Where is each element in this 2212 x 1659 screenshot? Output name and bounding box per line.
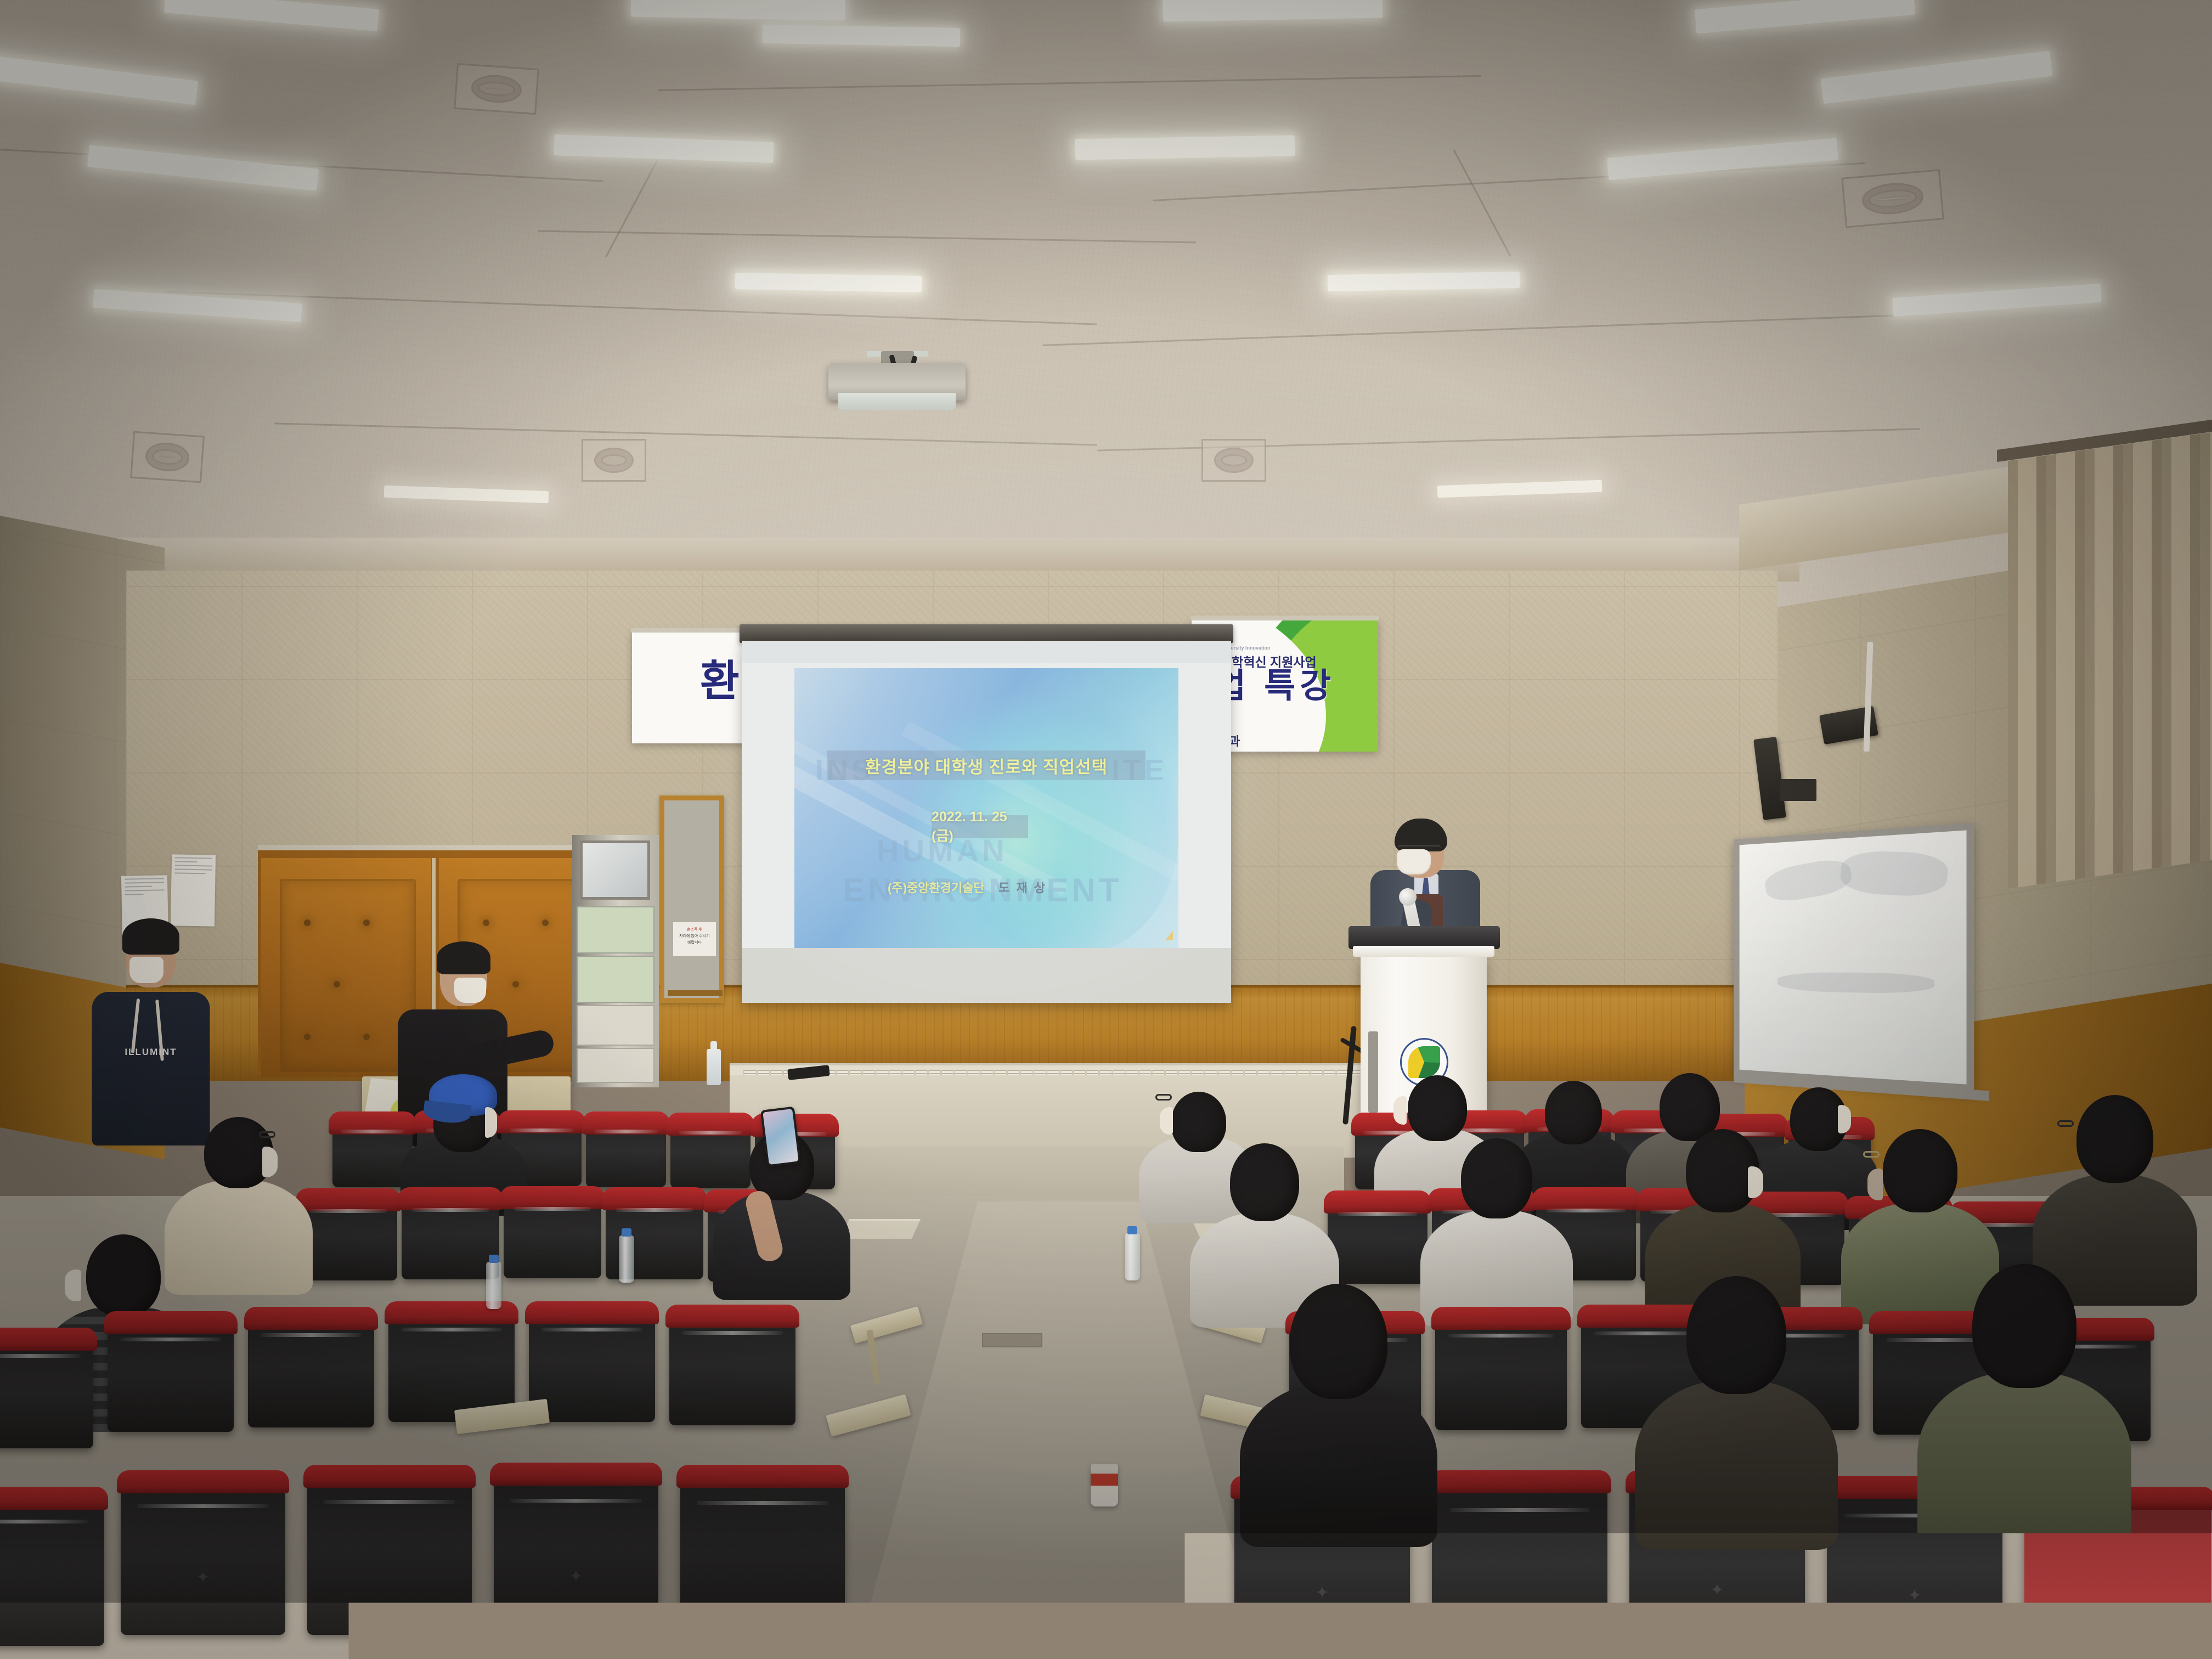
speaker-bracket: [1780, 779, 1816, 801]
bottle-cap: [622, 1228, 631, 1237]
projector-lens: [838, 393, 956, 410]
face-mask-icon: [1748, 1166, 1763, 1198]
whiteboard[interactable]: [1734, 823, 1974, 1092]
audience-member: [1662, 1119, 1783, 1289]
audience-head: [86, 1234, 161, 1317]
whiteboard-smudge: [1778, 972, 1934, 994]
seat-star-emblem: ✦: [1315, 1583, 1329, 1602]
banner-left-char: 환: [700, 659, 740, 702]
smartphone-camera[interactable]: [760, 1107, 801, 1167]
audience-member: [1942, 1262, 2107, 1509]
audience-fleece-dark: [1240, 1383, 1437, 1547]
podium-side-slot: [1368, 1031, 1378, 1113]
door-tuft: [542, 919, 549, 926]
notice-line-1: 손소독 후: [673, 927, 716, 933]
av-window: [580, 840, 650, 900]
whiteboard-smudge: [1839, 850, 1950, 898]
audience-head: [1230, 1143, 1299, 1221]
door-tuft: [483, 919, 489, 926]
av-panel: [577, 956, 654, 1003]
face-mask-icon: [1160, 1107, 1173, 1135]
face-mask-icon: [1397, 849, 1431, 874]
screen-bottom-band: [742, 948, 1231, 1003]
seat-star-emblem: ✦: [569, 1567, 583, 1586]
audience-head: [1461, 1138, 1532, 1218]
audience-member: [1262, 1278, 1415, 1509]
door-tuft: [304, 1034, 311, 1040]
seat[interactable]: [504, 1192, 601, 1278]
seat[interactable]: [680, 1470, 845, 1640]
audience-fleece: [165, 1180, 313, 1295]
phone-screen: [763, 1109, 798, 1165]
banner-headline: 업 특강: [1215, 669, 1335, 703]
ceiling-projector: [828, 351, 966, 411]
hoodie-text: ILLUMINT: [125, 1047, 177, 1058]
seat-star-emblem: ✦: [1710, 1581, 1724, 1600]
hand-sanitizer-bottle[interactable]: [707, 1049, 721, 1085]
audience-head: [1883, 1129, 1957, 1212]
stage-step: [840, 1219, 921, 1239]
seat[interactable]: [248, 1312, 374, 1427]
audience-member: [1437, 1127, 1555, 1292]
bottle-cap: [489, 1255, 499, 1263]
water-bottle[interactable]: [486, 1262, 501, 1309]
slide-corner-marker: [1165, 930, 1173, 940]
seat[interactable]: [402, 1193, 499, 1279]
glasses-icon: [2057, 1120, 2074, 1127]
floor-access-plate: [982, 1333, 1042, 1347]
student-hair: [122, 918, 179, 955]
seat[interactable]: [0, 1492, 104, 1646]
seat[interactable]: [0, 1333, 93, 1448]
audience-member: [1207, 1130, 1322, 1295]
water-bottle[interactable]: [619, 1235, 634, 1283]
audience-member: [417, 1069, 510, 1195]
lecture-hall-photo: 환 University Innovation 대학혁신 지원사업 업 특강 학…: [0, 0, 2212, 1659]
door-tuft: [334, 981, 340, 988]
audience-member: [2052, 1086, 2178, 1267]
banner-rail: [631, 628, 748, 633]
window-curtain[interactable]: [2008, 432, 2212, 889]
av-panel: [577, 1048, 654, 1083]
banner-rail: [1190, 616, 1379, 620]
audience-olive-jacket: [1917, 1372, 2131, 1553]
notice-line-3: 바랍니다: [673, 940, 716, 946]
door-tuft: [363, 1034, 370, 1040]
screen-top-band: [742, 641, 1231, 663]
water-bottle[interactable]: [1125, 1233, 1140, 1280]
door-tuft: [363, 919, 370, 926]
presentation-slide: INS ITE HUMAN ENVIRONMENT 환경분야 대학생 진로와 직…: [794, 668, 1178, 949]
face-mask-icon: [262, 1147, 278, 1177]
audience-head: [1972, 1264, 2076, 1388]
audience-head: [2076, 1095, 2153, 1183]
av-equipment-column: [572, 835, 659, 1087]
audience-head: [1290, 1284, 1387, 1399]
seat[interactable]: [1328, 1196, 1427, 1284]
face-mask-icon: [129, 957, 163, 983]
glasses-icon: [1863, 1151, 1880, 1158]
audience-member: [1772, 1069, 1865, 1206]
slide-title: 환경분야 대학생 진로와 직업선택: [827, 751, 1145, 780]
seat[interactable]: [300, 1194, 397, 1280]
seat[interactable]: [108, 1317, 234, 1432]
glasses-icon: [259, 1131, 275, 1138]
marker-tray: [668, 990, 723, 996]
seat[interactable]: [529, 1307, 655, 1422]
projection-screen: INS ITE HUMAN ENVIRONMENT 환경분야 대학생 진로와 직…: [742, 641, 1231, 1003]
seat[interactable]: [1432, 1476, 1607, 1657]
face-mask-icon: [1393, 1096, 1407, 1125]
face-mask-icon: [454, 978, 486, 1003]
slide-presenter-name: 도 재 상: [998, 878, 1047, 896]
audience-jacket: [1635, 1380, 1838, 1550]
notice-board: 손소독 후 자리에 앉아 주시기 바랍니다: [659, 795, 724, 1003]
glasses-icon: [1155, 1094, 1172, 1101]
seat[interactable]: ✦: [494, 1468, 658, 1638]
audience-member: [1657, 1273, 1816, 1509]
audience-member: [181, 1103, 296, 1267]
seat[interactable]: [669, 1310, 795, 1425]
face-mask-icon: [485, 1107, 497, 1138]
av-panel: [577, 1005, 654, 1046]
staff-hair: [437, 941, 490, 974]
podium-top-edge: [1353, 946, 1494, 957]
banner-left: 환: [632, 631, 747, 743]
screen-housing: [740, 624, 1233, 643]
notice-line-2: 자리에 앉아 주시기: [673, 933, 716, 940]
notice-paper: 손소독 후 자리에 앉아 주시기 바랍니다: [673, 922, 716, 956]
door-tuft: [304, 919, 311, 926]
bottle-cap: [1127, 1226, 1137, 1234]
av-panel: [577, 906, 654, 953]
face-mask-icon: [65, 1269, 81, 1301]
slide-date: 2022. 11. 25 (금): [932, 815, 1028, 838]
seat[interactable]: [307, 1470, 472, 1635]
seat-star-emblem: ✦: [196, 1568, 210, 1587]
seat[interactable]: [1435, 1312, 1567, 1430]
seat[interactable]: ✦: [121, 1476, 285, 1635]
seat[interactable]: [586, 1117, 666, 1187]
slide-organization: (주)중앙환경기술단: [888, 878, 985, 896]
coffee-cup[interactable]: [1091, 1464, 1118, 1506]
whiteboard-smudge: [1763, 855, 1853, 905]
audience-head: [1686, 1276, 1786, 1394]
face-mask-icon: [1838, 1105, 1851, 1133]
seat-star-emblem: ✦: [1908, 1586, 1921, 1605]
face-mask-icon: [1867, 1169, 1883, 1200]
